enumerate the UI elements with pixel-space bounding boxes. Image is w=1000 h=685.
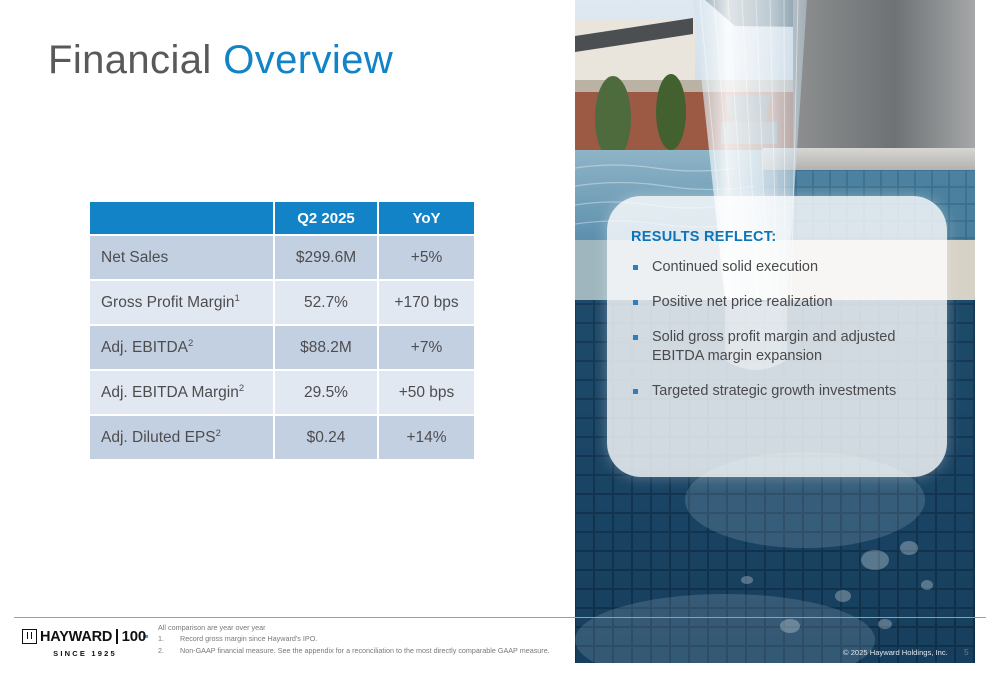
- footnote-item: 2. Non-GAAP financial measure. See the a…: [158, 645, 550, 656]
- table-cell-q2: 52.7%: [274, 280, 378, 325]
- results-heading: RESULTS REFLECT:: [631, 229, 777, 245]
- footnote-intro: All comparison are year over year: [158, 622, 550, 633]
- footnote-text: Non-GAAP financial measure. See the appe…: [180, 645, 550, 656]
- metric-label: Adj. Diluted EPS: [101, 429, 216, 446]
- metric-label: Adj. EBITDA: [101, 339, 188, 356]
- copyright-notice: © 2025 Hayward Holdings, Inc.: [843, 648, 948, 657]
- table-row: Net Sales $299.6M +5%: [89, 235, 475, 280]
- financial-metrics-table: Q2 2025 YoY Net Sales $299.6M +5% Gross …: [88, 200, 476, 461]
- page-title: Financial Overview: [48, 38, 393, 83]
- footnote-ref: 2: [239, 383, 244, 394]
- metric-label: Net Sales: [101, 249, 168, 266]
- footnote-number: 2.: [158, 645, 180, 656]
- table-header-row: Q2 2025 YoY: [89, 201, 475, 235]
- table-cell-yoy: +50 bps: [378, 370, 475, 415]
- table-cell-yoy: +170 bps: [378, 280, 475, 325]
- table-cell-label: Adj. EBITDA Margin2: [89, 370, 274, 415]
- table-row: Adj. Diluted EPS2 $0.24 +14%: [89, 415, 475, 460]
- table-cell-yoy: +14%: [378, 415, 475, 460]
- metric-label: Adj. EBITDA Margin: [101, 384, 239, 401]
- list-item: Continued solid execution: [631, 258, 931, 277]
- list-item: Targeted strategic growth investments: [631, 382, 931, 401]
- table-cell-q2: $299.6M: [274, 235, 378, 280]
- logo-tagline: SINCE 1925: [22, 649, 148, 658]
- results-callout-panel: RESULTS REFLECT: Continued solid executi…: [607, 196, 947, 477]
- table-cell-q2: $0.24: [274, 415, 378, 460]
- logo-divider: [116, 629, 117, 644]
- list-item: Solid gross profit margin and adjusted E…: [631, 328, 931, 366]
- page-title-primary: Financial: [48, 38, 223, 82]
- footnote-ref: 1: [235, 293, 240, 304]
- list-item: Positive net price realization: [631, 293, 931, 312]
- slide-canvas: Financial Overview Q2 2025 YoY Net Sales…: [0, 0, 1000, 685]
- table-cell-yoy: +7%: [378, 325, 475, 370]
- hayward-logo: HAYWARD 100 SINCE 1925: [22, 628, 148, 658]
- results-bullet-list: Continued solid execution Positive net p…: [631, 258, 931, 417]
- table-row: Adj. EBITDA Margin2 29.5% +50 bps: [89, 370, 475, 415]
- hayward-mark-icon: [22, 629, 37, 644]
- table-row: Gross Profit Margin1 52.7% +170 bps: [89, 280, 475, 325]
- footnote-intro-text: All comparison are year over year: [158, 622, 265, 633]
- table-header-q2: Q2 2025: [274, 201, 378, 235]
- logo-anniversary: 100: [122, 628, 146, 645]
- page-title-accent: Overview: [223, 38, 393, 82]
- logo-lockup: HAYWARD 100: [22, 628, 148, 645]
- table-header-yoy: YoY: [378, 201, 475, 235]
- table-cell-q2: 29.5%: [274, 370, 378, 415]
- footnotes: All comparison are year over year 1. Rec…: [158, 622, 550, 656]
- footnote-ref: 2: [216, 428, 221, 439]
- metric-label: Gross Profit Margin: [101, 294, 235, 311]
- table-cell-yoy: +5%: [378, 235, 475, 280]
- footnote-number: 1.: [158, 633, 180, 644]
- table-row: Adj. EBITDA2 $88.2M +7%: [89, 325, 475, 370]
- table-cell-label: Adj. Diluted EPS2: [89, 415, 274, 460]
- table-cell-label: Adj. EBITDA2: [89, 325, 274, 370]
- footnote-ref: 2: [188, 338, 193, 349]
- footnote-text: Record gross margin since Hayward’s IPO.: [180, 633, 317, 644]
- table-cell-q2: $88.2M: [274, 325, 378, 370]
- footnote-item: 1. Record gross margin since Hayward’s I…: [158, 633, 550, 644]
- logo-wordmark: HAYWARD: [40, 629, 112, 645]
- table-cell-label: Net Sales: [89, 235, 274, 280]
- page-number: 5: [964, 647, 969, 657]
- table-cell-label: Gross Profit Margin1: [89, 280, 274, 325]
- table-header-blank: [89, 201, 274, 235]
- footer-divider: [14, 617, 986, 618]
